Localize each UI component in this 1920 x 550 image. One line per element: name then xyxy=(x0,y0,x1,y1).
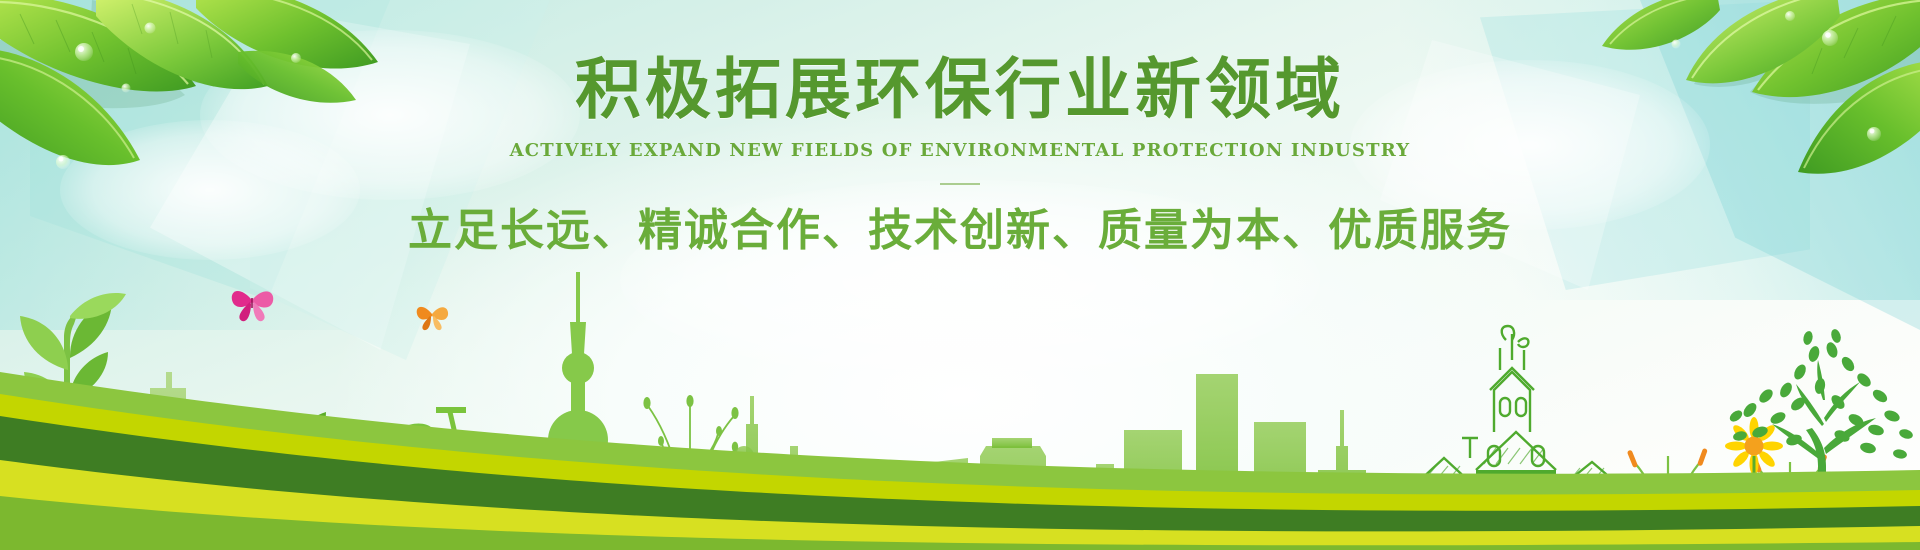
wave-bands xyxy=(0,320,1920,550)
page-title: 积极拓展环保行业新领域 xyxy=(0,0,1920,122)
title-divider xyxy=(940,183,980,185)
eco-banner: 积极拓展环保行业新领域 ACTIVELY EXPAND NEW FIELDS O… xyxy=(0,0,1920,550)
butterfly-pink-icon xyxy=(232,291,273,321)
page-slogan: 立足长远、精诚合作、技术创新、质量为本、优质服务 xyxy=(0,185,1920,255)
headline-group: 积极拓展环保行业新领域 ACTIVELY EXPAND NEW FIELDS O… xyxy=(0,0,1920,255)
